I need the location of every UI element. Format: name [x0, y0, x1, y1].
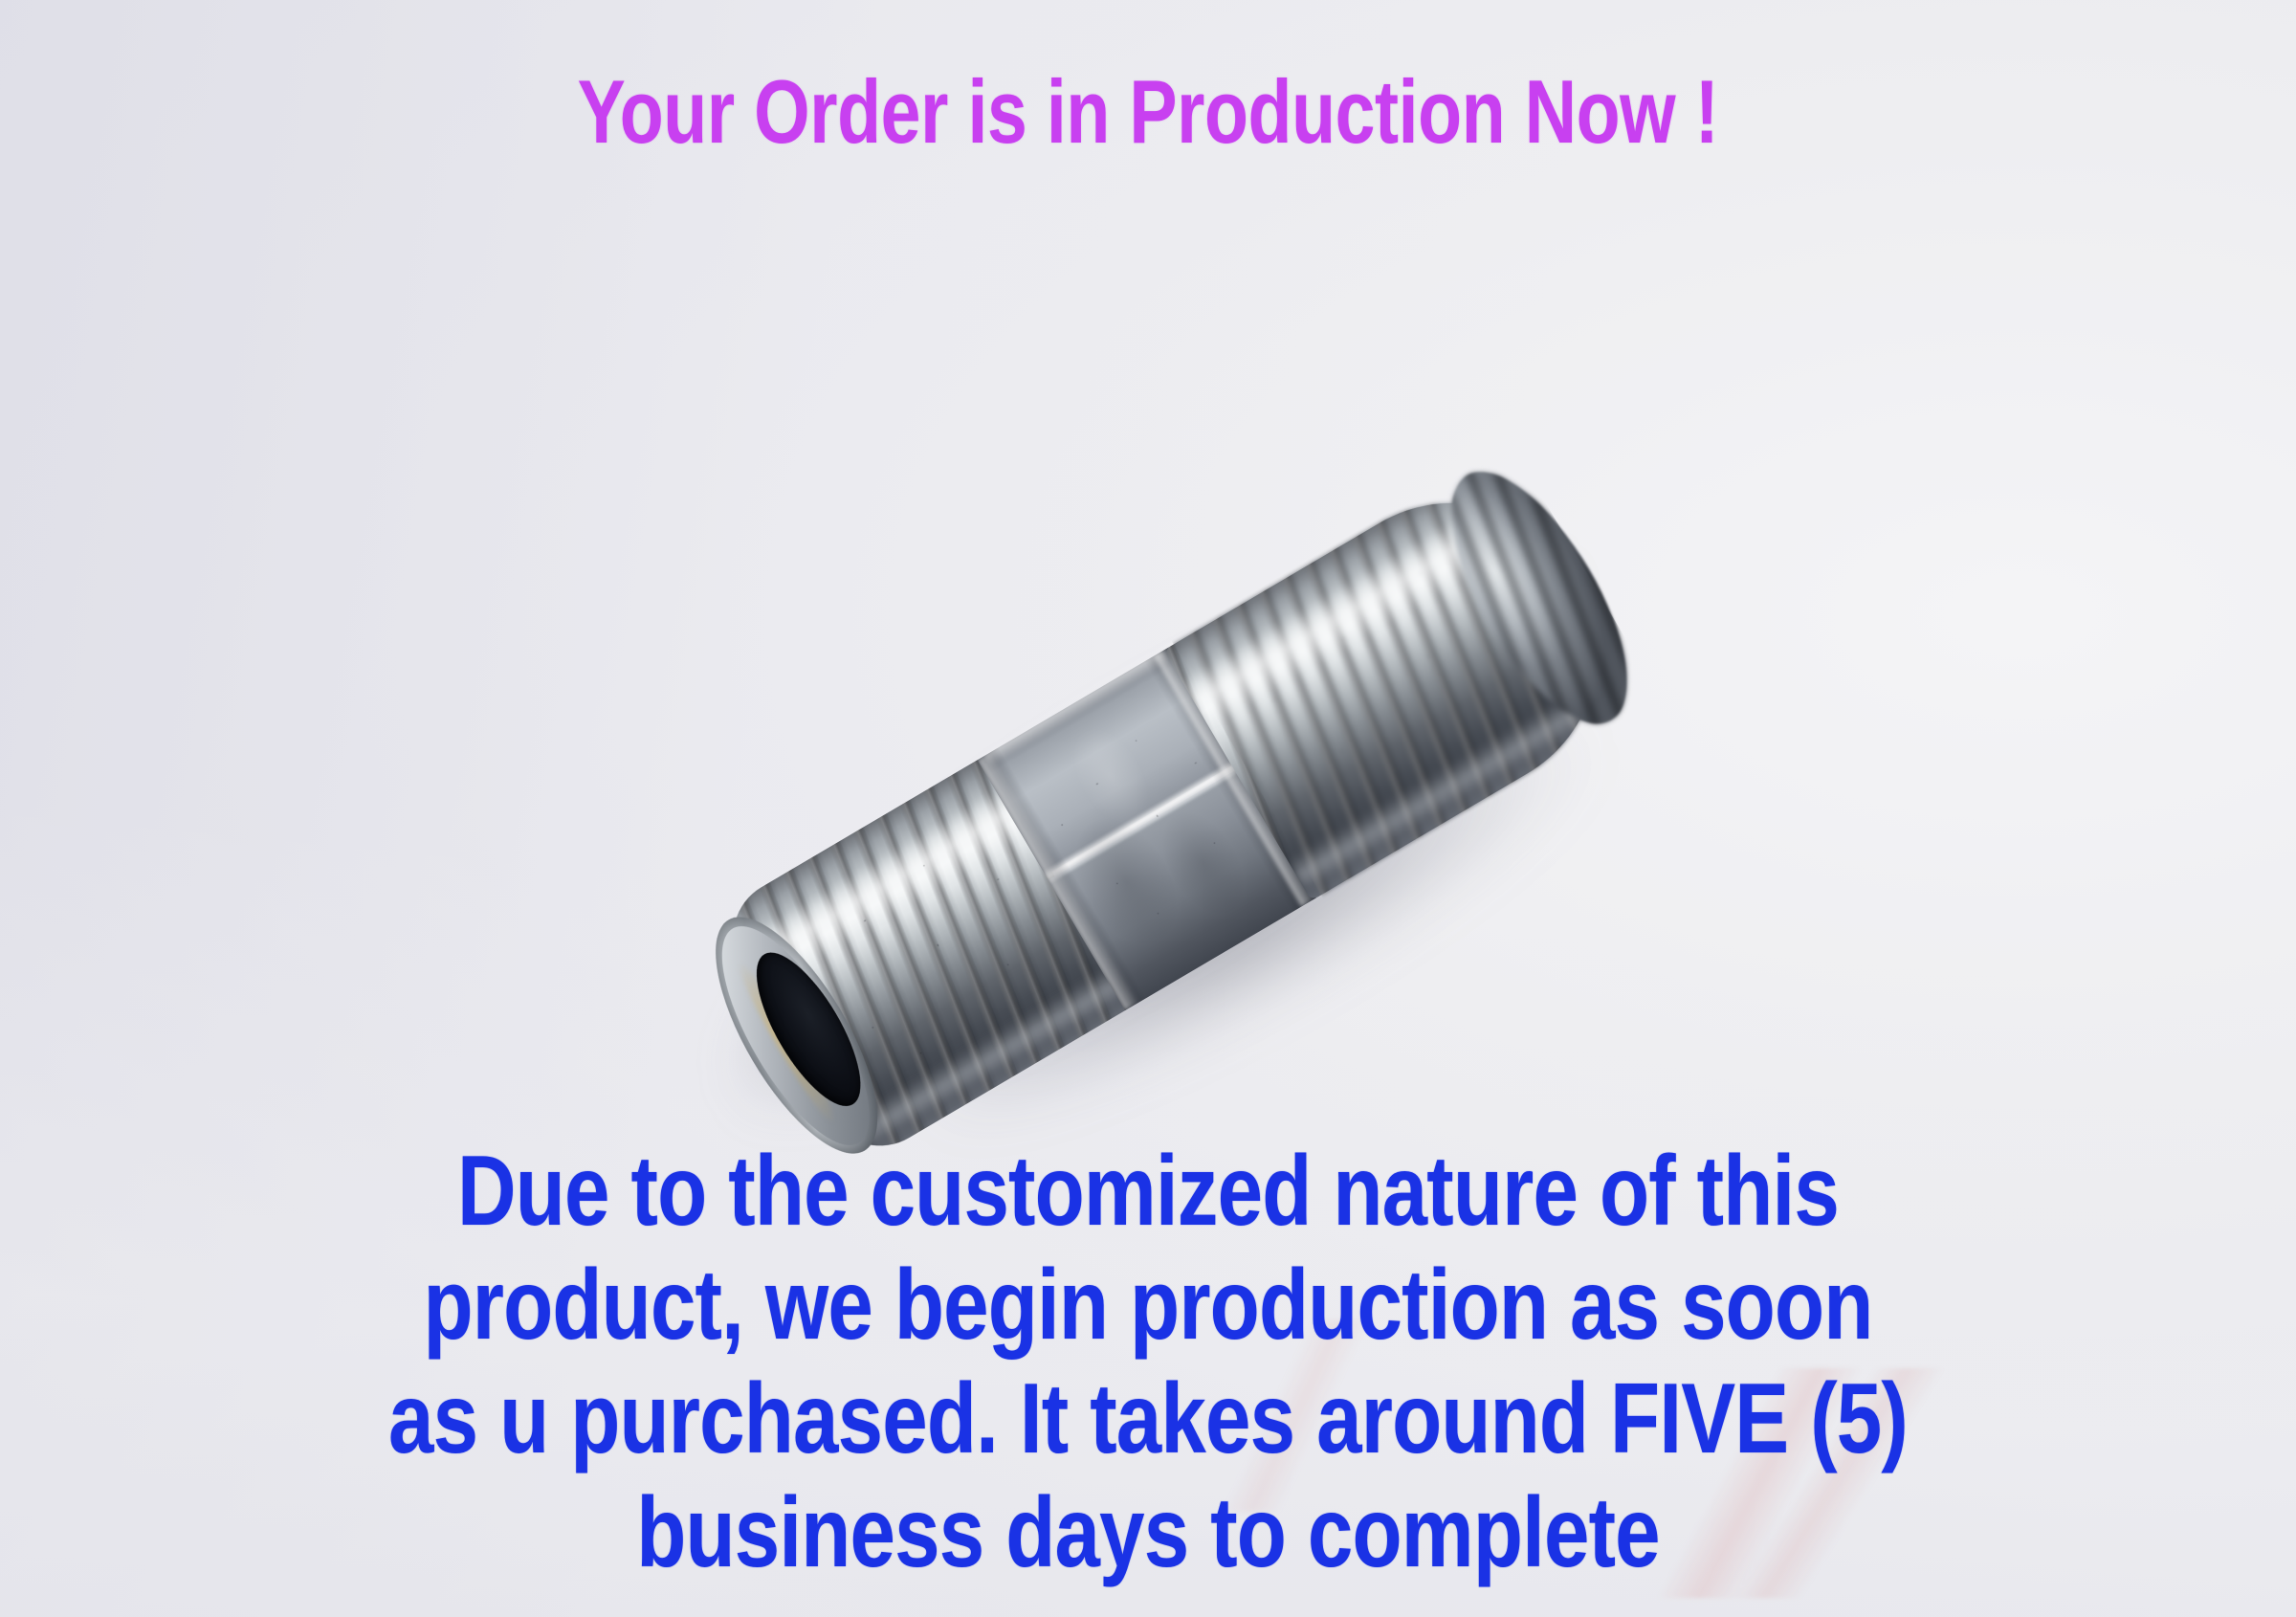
- body-line-2: product, we begin production as soon: [207, 1249, 2089, 1362]
- body-line-1: Due to the customized nature of this: [207, 1135, 2089, 1249]
- promo-poster: Your Order is in Production Now !: [0, 0, 2296, 1617]
- body-line-4: business days to complete: [207, 1476, 2089, 1590]
- page-title: Your Order is in Production Now !: [230, 67, 2066, 157]
- body-text: Due to the customized nature of this pro…: [207, 1135, 2089, 1590]
- body-line-3: as u purchased. It takes around FIVE (5): [207, 1362, 2089, 1476]
